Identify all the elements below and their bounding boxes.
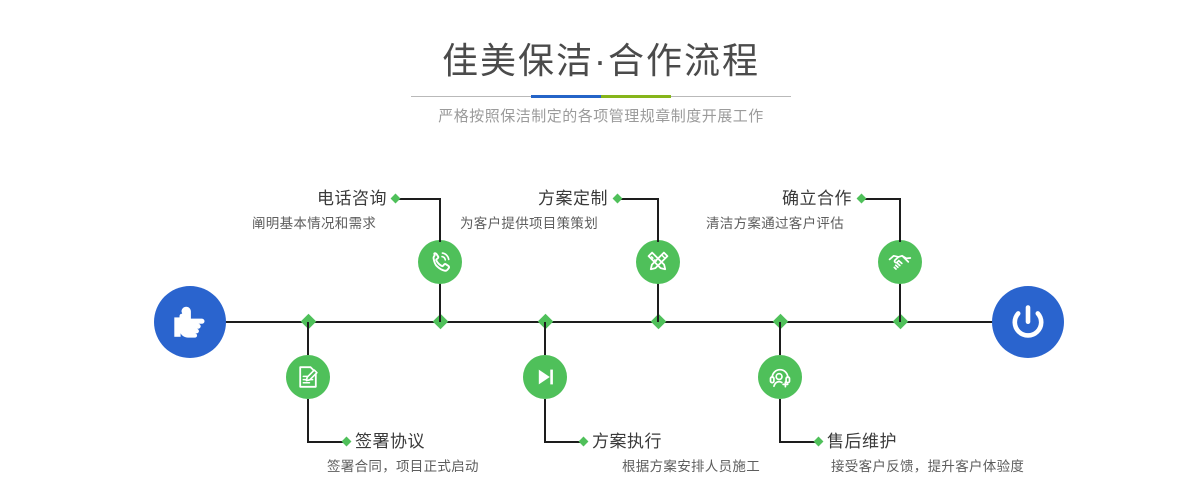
step-title-execute: 方案执行: [592, 431, 662, 453]
step-connector-phone-h: [398, 198, 440, 200]
step-connector-phone-v: [439, 198, 441, 242]
header: 佳美保洁·合作流程 严格按照保洁制定的各项管理规章制度开展工作: [0, 0, 1202, 150]
step-desc-sign: 签署合同，项目正式启动: [327, 457, 479, 476]
step-desc-design: 为客户提供项目策策划: [460, 214, 598, 233]
document-edit-icon: [295, 364, 321, 390]
timeline-start-node: [154, 286, 226, 358]
step-connector-support-v: [779, 399, 781, 443]
customer-support-icon: [767, 364, 793, 390]
step-connector-design-v: [657, 198, 659, 242]
step-connector-diamond-deal: [857, 194, 867, 204]
step-title-deal: 确立合作: [696, 188, 852, 210]
cooperation-process-infographic: 佳美保洁·合作流程 严格按照保洁制定的各项管理规章制度开展工作: [0, 0, 1202, 502]
pen-ruler-icon: [645, 249, 671, 275]
step-connector-diamond-support: [814, 437, 824, 447]
step-stem-support: [779, 322, 781, 355]
step-icon-phone-call[interactable]: [418, 240, 462, 284]
step-connector-deal-h: [864, 198, 900, 200]
step-connector-execute-v: [544, 399, 546, 443]
divider-blue-bar: [531, 95, 601, 98]
handshake-icon: [887, 249, 913, 275]
divider-right-line: [671, 96, 791, 97]
pointing-hand-icon: [154, 286, 226, 358]
phone-call-icon: [427, 249, 453, 275]
step-icon-pen-ruler[interactable]: [636, 240, 680, 284]
step-icon-play-skip[interactable]: [523, 355, 567, 399]
step-connector-diamond-phone: [391, 194, 401, 204]
title-divider: [411, 95, 791, 98]
step-connector-execute-h: [544, 441, 582, 443]
step-connector-sign-v: [307, 399, 309, 443]
step-title-sign: 签署协议: [355, 431, 425, 453]
divider-left-line: [411, 96, 531, 97]
page-title: 佳美保洁·合作流程: [0, 38, 1202, 84]
page-subtitle: 严格按照保洁制定的各项管理规章制度开展工作: [0, 106, 1202, 128]
step-title-support: 售后维护: [827, 431, 897, 453]
step-icon-customer-support[interactable]: [758, 355, 802, 399]
divider-green-bar: [601, 95, 671, 98]
step-stem-execute: [544, 322, 546, 355]
step-desc-support: 接受客户反馈，提升客户体验度: [831, 457, 1024, 476]
power-button-icon: [992, 286, 1064, 358]
step-title-phone: 电话咨询: [232, 188, 387, 210]
timeline-end-node: [992, 286, 1064, 358]
step-connector-sign-h: [307, 441, 345, 443]
step-stem-sign: [307, 322, 309, 355]
step-title-design: 方案定制: [452, 188, 608, 210]
step-desc-phone: 阐明基本情况和需求: [252, 214, 376, 233]
step-icon-handshake[interactable]: [878, 240, 922, 284]
step-desc-deal: 清洁方案通过客户评估: [706, 214, 844, 233]
step-connector-design-h: [620, 198, 658, 200]
step-connector-deal-v: [899, 198, 901, 242]
step-connector-support-h: [779, 441, 817, 443]
step-connector-diamond-execute: [579, 437, 589, 447]
step-icon-document-edit[interactable]: [286, 355, 330, 399]
timeline: 电话咨询 阐明基本情况和需求 方案定制 为客户提供项目策策划: [0, 150, 1202, 502]
step-connector-diamond-sign: [342, 437, 352, 447]
step-desc-execute: 根据方案安排人员施工: [622, 457, 760, 476]
step-connector-diamond-design: [613, 194, 623, 204]
play-skip-icon: [532, 364, 558, 390]
